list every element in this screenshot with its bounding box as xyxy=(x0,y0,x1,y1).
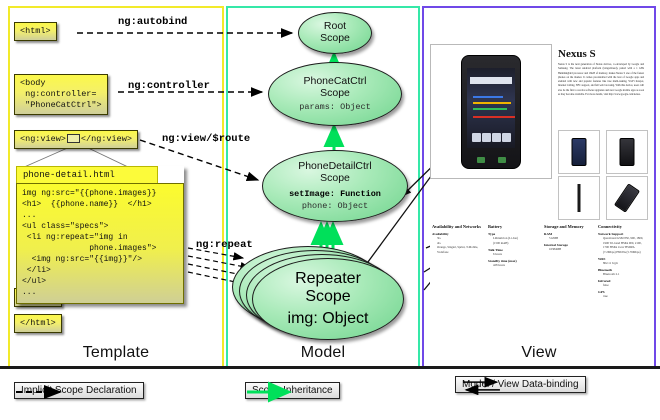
scope-root: Root Scope xyxy=(298,12,372,54)
thumbnail-4-image xyxy=(614,183,640,212)
view-rendered-page: Nexus S Nexus S is the next generation o… xyxy=(430,16,644,346)
thumbnail-3[interactable] xyxy=(558,176,600,220)
spec-column-availability: Availability and Networks Availability 3… xyxy=(432,224,484,254)
spec-value-standby: 428 hours xyxy=(493,263,540,268)
code-card-filename: phone-detail.html xyxy=(16,166,158,183)
product-title: Nexus S xyxy=(558,48,596,60)
spec-value-internal-storage: 16384MB xyxy=(549,247,596,252)
scope-repeater-prop-img: img: Object xyxy=(288,310,369,328)
tag-html-close: </html> xyxy=(14,314,62,333)
phone-screen-line-4 xyxy=(473,116,515,118)
label-ng-repeat: ng:repeat xyxy=(196,239,253,251)
spec-value-infrared: false xyxy=(603,283,644,288)
thumbnail-2-image xyxy=(620,138,635,166)
label-ng-view-route: ng:view/$route xyxy=(162,133,250,145)
scope-root-title-2: Scope xyxy=(320,33,350,45)
phone-screen xyxy=(467,68,515,148)
spec-value-wifi: 802.11 b/g/n xyxy=(603,261,644,266)
spec-column-storage: Storage and Memory RAM 512MB Internal St… xyxy=(544,224,596,252)
code-card-leader-lines xyxy=(22,146,130,168)
legend-item-implicit-scope: Implicit Scope Declaration xyxy=(14,382,144,399)
product-description: Nexus S is the next generation of Nexus … xyxy=(558,63,644,97)
phone-main-image-frame xyxy=(430,44,552,179)
scope-phonedetailctrl-prop-phone: phone: Object xyxy=(302,201,368,211)
scope-phonecatctrl-title-2: Scope xyxy=(320,88,350,100)
code-card-phone-detail: phone-detail.html img ng:src="{{phone.im… xyxy=(16,166,184,304)
thumbnail-4[interactable] xyxy=(606,176,648,220)
scope-phonedetailctrl-prop-setimage: setImage: Function xyxy=(289,189,381,199)
footer-divider xyxy=(0,366,660,369)
spec-value-bluetooth: Bluetooth 2.1 xyxy=(603,272,644,277)
spec-value-network-support: Quad-band GSM 850, 900, 1800, 1900 Tri-b… xyxy=(603,236,644,254)
spec-heading-connectivity: Connectivity xyxy=(598,224,644,230)
spec-heading-availability: Availability and Networks xyxy=(432,224,484,230)
scope-phonedetailctrl-title-2: Scope xyxy=(320,173,350,185)
spec-value-availability-2: Orange, Singtel, Sprint, T-Mobile, Vodaf… xyxy=(437,245,484,254)
thumbnail-1-image xyxy=(572,138,587,166)
dashed-arrow-icon xyxy=(14,382,70,402)
phone-screen-line-1 xyxy=(473,96,503,98)
green-arrow-icon xyxy=(245,382,301,402)
phone-device-illustration xyxy=(461,55,521,169)
phone-screen-line-3 xyxy=(473,108,507,110)
scope-repeater-title-2: Scope xyxy=(305,288,350,306)
ng-view-slot-icon xyxy=(67,134,80,143)
spec-value-gps: true xyxy=(603,294,644,299)
phone-home-buttons xyxy=(470,155,512,164)
thumbnail-3-image xyxy=(578,184,581,212)
scope-repeater-title-1: Repeater xyxy=(295,270,361,288)
tag-body-open: <body ng:controller= "PhoneCatCtrl"> xyxy=(14,74,108,115)
tag-ng-view: <ng:view></ng:view> xyxy=(14,130,138,149)
spec-column-battery: Battery Type Lithium Ion (Li-Ion) (1500 … xyxy=(488,224,540,267)
legend-item-scope-inheritance: Scope Inheritance xyxy=(245,382,340,399)
scope-phonecatctrl: PhoneCatCtrl Scope params: Object xyxy=(268,62,402,126)
product-specs: Availability and Networks Availability 3… xyxy=(430,224,644,324)
spec-value-talk-time: 6 hours xyxy=(493,252,540,257)
scope-phonedetailctrl: PhoneDetailCtrl Scope setImage: Function… xyxy=(262,150,408,222)
spec-column-connectivity: Connectivity Network Support Quad-band G… xyxy=(598,224,644,298)
spec-value-battery-type-1: (1500 mAH) xyxy=(493,241,540,246)
label-ng-autobind: ng:autobind xyxy=(118,16,187,28)
spec-heading-storage: Storage and Memory xyxy=(544,224,596,230)
phone-screen-line-2 xyxy=(473,102,511,104)
spec-heading-battery: Battery xyxy=(488,224,540,230)
scope-phonecatctrl-prop-params: params: Object xyxy=(299,102,370,112)
ng-view-close-label: </ng:view> xyxy=(81,134,132,144)
phone-app-icons xyxy=(471,133,511,144)
ng-view-open-label: <ng:view> xyxy=(20,134,66,144)
tag-html-open: <html> xyxy=(14,22,57,41)
thumbnail-2[interactable] xyxy=(606,130,648,174)
legend: Implicit Scope Declaration Scope Inherit… xyxy=(0,372,660,420)
diagram-canvas: Template Model View xyxy=(0,0,660,420)
legend-item-data-binding: Model / View Data-binding xyxy=(455,376,586,393)
scope-repeater: Repeater Scope img: Object xyxy=(252,258,404,340)
label-ng-controller: ng:controller xyxy=(128,80,210,92)
phone-search-bar xyxy=(470,77,512,84)
code-card-source: img ng:src="{{phone.images}} <h1> {{phon… xyxy=(16,183,184,304)
spec-value-ram: 512MB xyxy=(549,236,596,241)
double-arrow-icon xyxy=(455,376,511,396)
thumbnail-1[interactable] xyxy=(558,130,600,174)
